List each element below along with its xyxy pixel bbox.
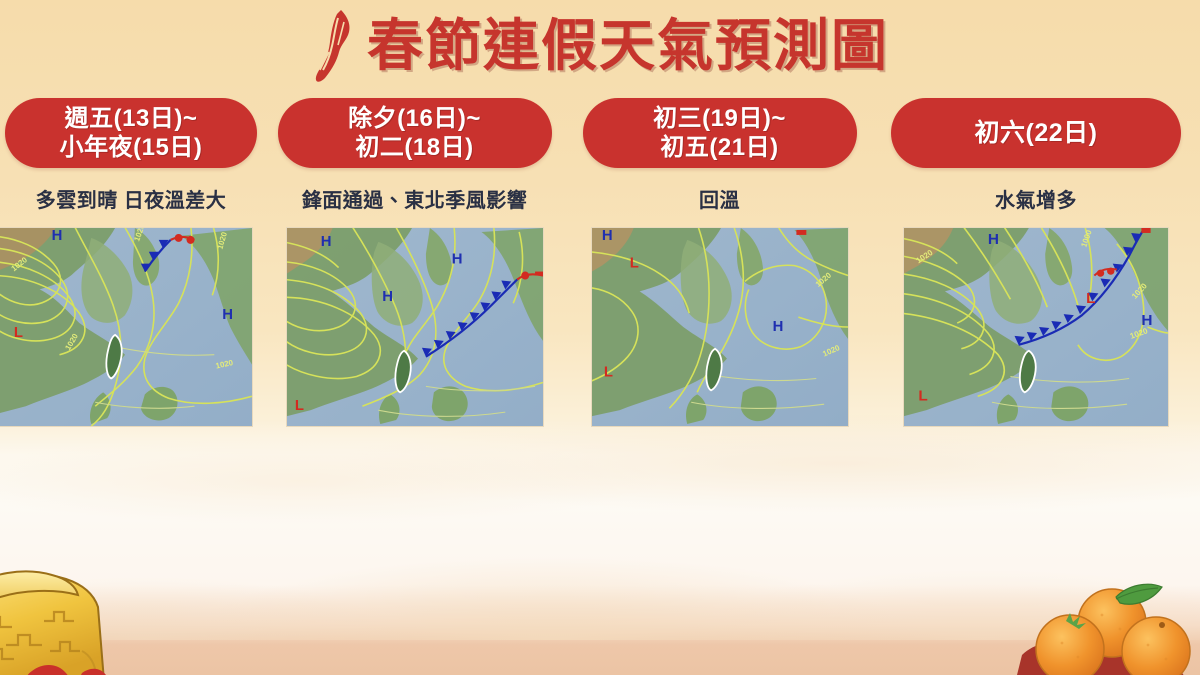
- high-pressure-marker: H: [382, 289, 393, 305]
- forecast-column-2: 除夕(16日)~ 初二(18日) 鋒面通過、東北季風影響: [262, 98, 567, 438]
- forecast-column-3: 初三(19日)~ 初五(21日) 回溫: [567, 98, 872, 438]
- high-pressure-marker: H: [451, 252, 462, 268]
- forecast-columns: 週五(13日)~ 小年夜(15日) 多雲到晴 日夜溫差大: [0, 98, 1200, 438]
- date-banner-4-line-1: 初六(22日): [975, 118, 1098, 149]
- high-pressure-marker: H: [1141, 312, 1152, 329]
- forecast-column-4: 初六(22日) 水氣增多: [872, 98, 1200, 438]
- low-pressure-marker: L: [918, 387, 927, 404]
- forecast-caption-2: 鋒面通過、東北季風影響: [302, 184, 528, 213]
- high-pressure-marker: H: [601, 228, 612, 244]
- date-banner-1[interactable]: 週五(13日)~ 小年夜(15日): [5, 98, 257, 168]
- low-pressure-marker: L: [603, 365, 612, 381]
- weather-map-4[interactable]: 1020 1020 1020 1000: [903, 227, 1169, 427]
- date-banner-4[interactable]: 初六(22日): [891, 98, 1181, 168]
- weather-forecast-infographic: 春節連假天氣預測圖 週五(13日)~ 小年夜(15日) 多雲到晴 日夜溫差大: [0, 0, 1200, 675]
- mandarin-oranges-icon: [1016, 559, 1196, 675]
- date-banner-3-line-1: 初三(19日)~: [653, 104, 786, 133]
- date-banner-2-line-1: 除夕(16日)~: [348, 104, 481, 133]
- high-pressure-marker: H: [988, 231, 999, 248]
- forecast-caption-1: 多雲到晴 日夜溫差大: [36, 184, 227, 213]
- gold-ingot-icon: [0, 531, 191, 675]
- forecast-column-1: 週五(13日)~ 小年夜(15日) 多雲到晴 日夜溫差大: [0, 98, 262, 438]
- low-pressure-marker: L: [629, 256, 638, 272]
- low-pressure-marker: L: [1086, 290, 1095, 307]
- date-banner-1-line-1: 週五(13日)~: [65, 104, 198, 133]
- weather-map-3[interactable]: 1020 1020 H H L L: [591, 227, 849, 427]
- high-pressure-marker: H: [52, 228, 63, 244]
- high-pressure-marker: H: [320, 234, 331, 250]
- page-title: 春節連假天氣預測圖: [367, 18, 889, 74]
- weather-map-1[interactable]: 1020 1020 1020 1020 1020 H H L: [0, 227, 253, 427]
- taiwan-island-icon: [311, 8, 357, 84]
- low-pressure-marker: L: [294, 398, 303, 414]
- date-banner-3-line-2: 初五(21日): [660, 133, 778, 162]
- date-banner-2-line-2: 初二(18日): [355, 133, 473, 162]
- date-banner-2[interactable]: 除夕(16日)~ 初二(18日): [278, 98, 552, 168]
- date-banner-3[interactable]: 初三(19日)~ 初五(21日): [583, 98, 857, 168]
- forecast-caption-3: 回溫: [699, 184, 740, 213]
- low-pressure-marker: L: [14, 325, 23, 341]
- high-pressure-marker: H: [772, 319, 783, 335]
- weather-map-2[interactable]: H H H L: [286, 227, 544, 427]
- page-title-bar: 春節連假天氣預測圖: [0, 2, 1200, 90]
- high-pressure-marker: H: [222, 307, 233, 323]
- forecast-caption-4: 水氣增多: [995, 184, 1077, 213]
- date-banner-1-line-2: 小年夜(15日): [60, 133, 203, 162]
